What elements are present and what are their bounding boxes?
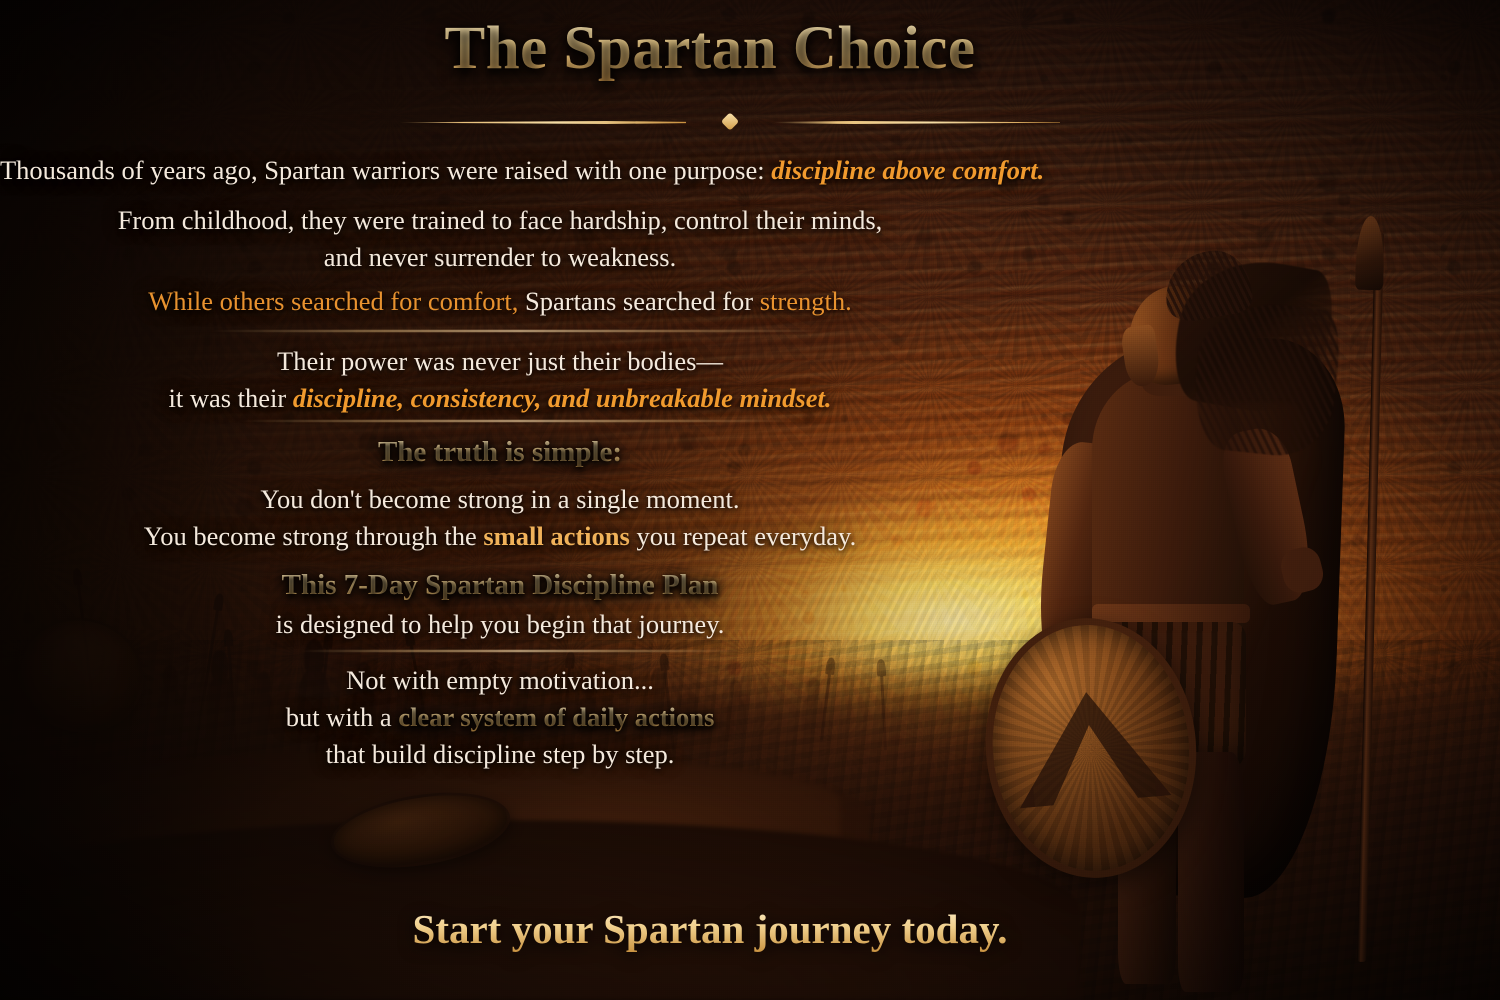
section-divider: [210, 330, 830, 332]
text-line: and never surrender to weakness.: [0, 239, 1000, 276]
poster-content: The Spartan Choice Thousands of years ag…: [0, 0, 1500, 1000]
text-line: While others searched for comfort, Spart…: [0, 283, 1000, 320]
ornament-diamond-icon: [721, 112, 739, 130]
text-run: Thousands of years ago, Spartan warriors…: [0, 155, 771, 185]
text-block-plan: This 7-Day Spartan Discipline Plan is de…: [0, 565, 1000, 643]
text-line: Not with empty motivation...: [0, 662, 1000, 699]
text-run-highlight: discipline above comfort.: [771, 155, 1044, 185]
section-divider: [240, 420, 800, 422]
text-block-power: Their power was never just their bodies—…: [0, 343, 1000, 417]
ornament-bar-right: [774, 121, 1060, 124]
section-divider: [300, 650, 740, 652]
text-line: Their power was never just their bodies—: [0, 343, 1000, 380]
section-heading: The truth is simple:: [0, 432, 1000, 473]
text-run: but with a: [286, 702, 399, 732]
text-block-upbringing: From childhood, they were trained to fac…: [0, 202, 1000, 276]
ornament-bar-left: [400, 121, 686, 124]
text-block-intro: Thousands of years ago, Spartan warriors…: [0, 152, 1000, 189]
text-block-truth-heading: The truth is simple:: [0, 432, 1000, 473]
text-block-method: Not with empty motivation... but with a …: [0, 662, 1000, 773]
text-run-highlight: clear system of daily actions: [398, 702, 714, 732]
title-ornament-divider: [400, 112, 1060, 132]
text-line: it was their discipline, consistency, an…: [0, 380, 1000, 417]
footer-cta: Start your Spartan journey today.: [0, 905, 1420, 953]
text-line: Thousands of years ago, Spartan warriors…: [0, 152, 1000, 189]
text-run: Spartans searched for: [518, 286, 759, 316]
text-line: but with a clear system of daily actions: [0, 699, 1000, 736]
section-heading: This 7-Day Spartan Discipline Plan: [0, 565, 1000, 606]
text-run: you repeat everyday.: [630, 521, 856, 551]
text-run-highlight: small actions: [483, 521, 630, 551]
text-line: that build discipline step by step.: [0, 736, 1000, 773]
text-line: From childhood, they were trained to fac…: [0, 202, 1000, 239]
text-line: is designed to help you begin that journ…: [0, 606, 1000, 643]
poster-canvas: The Spartan Choice Thousands of years ag…: [0, 0, 1500, 1000]
text-block-contrast: While others searched for comfort, Spart…: [0, 283, 1000, 320]
text-line: You become strong through the small acti…: [0, 518, 1000, 555]
text-run-highlight: discipline, consistency, and unbreakable…: [293, 383, 832, 413]
text-run-highlight: While others searched for comfort,: [148, 286, 518, 316]
text-line: You don't become strong in a single mome…: [0, 481, 1000, 518]
page-title: The Spartan Choice: [0, 14, 1420, 84]
text-block-truth-body: You don't become strong in a single mome…: [0, 481, 1000, 555]
text-run: You become strong through the: [144, 521, 484, 551]
text-run: it was their: [169, 383, 293, 413]
text-run-highlight: strength.: [760, 286, 852, 316]
